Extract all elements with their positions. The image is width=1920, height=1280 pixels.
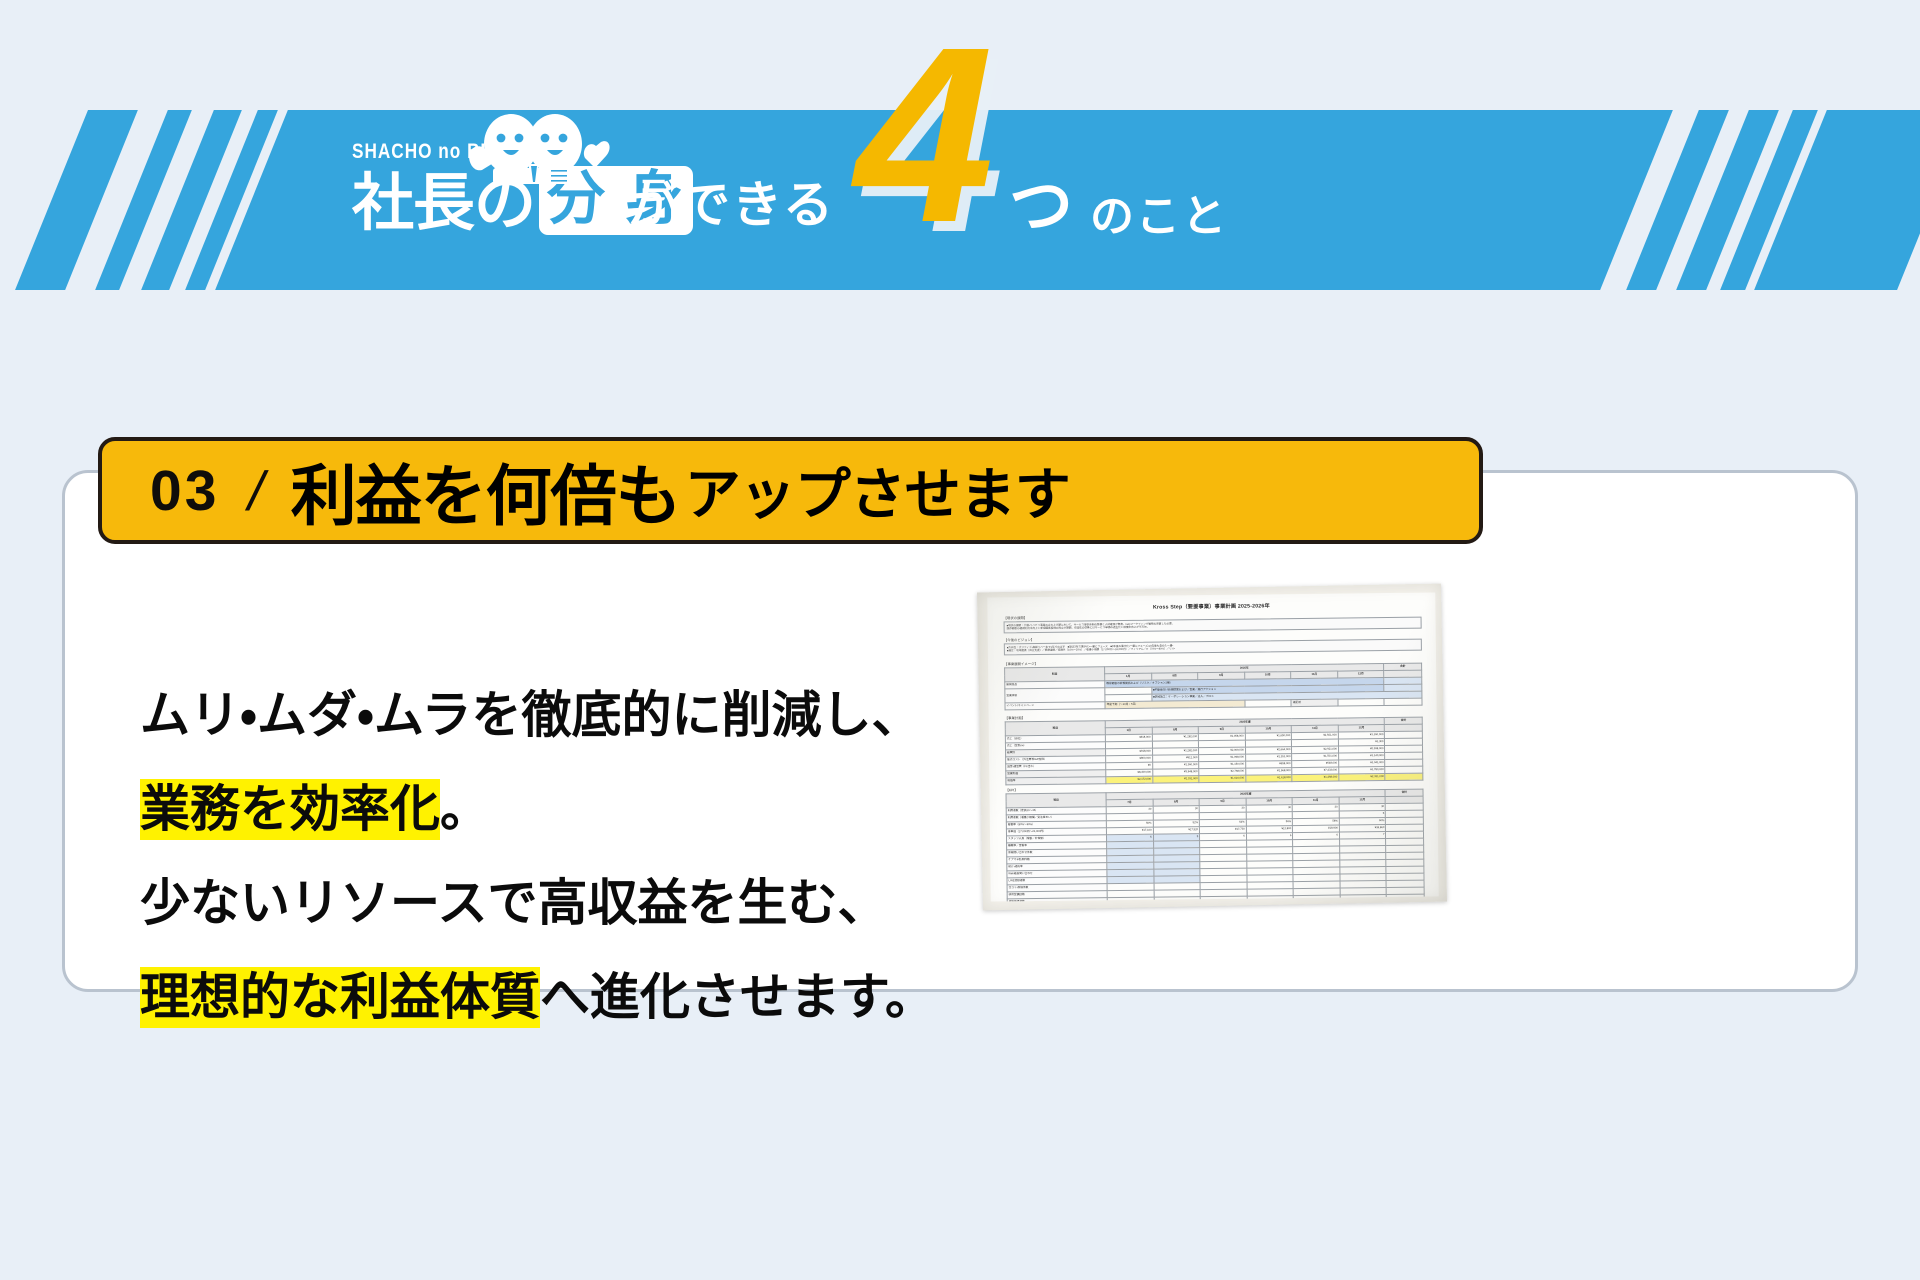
timeline-row-bar-2: 年度下期（〜10月：5日） [1105, 700, 1245, 709]
plan-row-label-6: 利益率 [1006, 777, 1106, 785]
body-line-4: 理想的な利益体質へ進化させます。 [140, 972, 1040, 1022]
body-line-3: 少ないリソースで高収益を生む、 [140, 878, 1040, 928]
sheet-section-kpi: 【KPI】 科目 2025年度 合計 7月 8月 9月 10月 11月 [1005, 783, 1425, 902]
body-line-2-seg-2: 。 [440, 781, 490, 837]
plan-cell: ¥2,331,000 [1339, 774, 1386, 782]
kpi-corner-label: 科目 [1006, 793, 1106, 808]
plan-cell: ¥1,618,000 [1246, 775, 1293, 783]
kpi-cell-total [1387, 894, 1425, 901]
timeline-corner-label: 科目 [1005, 667, 1105, 682]
sheet-kpi-table: 科目 2025年度 合計 7月 8月 9月 10月 11月 12月 [1006, 789, 1426, 902]
kpi-row-label-13: 資格取得者数 [1007, 898, 1107, 902]
kpi-cell [1200, 896, 1247, 901]
body-line-3-seg-1: 少ないリソースで高収益を生む、 [140, 875, 888, 931]
body-line-1: ムリ・ムダ・ムラを徹底的に削減し、 [140, 690, 1040, 740]
kpi-cell [1294, 895, 1341, 901]
kpi-cell [1340, 895, 1387, 902]
section-title-sub: アップさせます [685, 450, 1070, 531]
timeline-row-label-1: 営業体制 [1005, 688, 1105, 703]
timeline-cell-note: 補正前 [1291, 699, 1338, 707]
kpi-cell [1154, 897, 1201, 902]
section-title-main: 利益を何倍も [291, 443, 681, 539]
sheet-timeline-table: 科目 2025年 合計 1月 8月 9月 10月 11月 12月 [1004, 663, 1422, 711]
sheet-section-issues: 【現状の課題】 ■現状の課題：介護・リハビリ事業の立ち上げ期において、サービス提… [1003, 611, 1421, 634]
spreadsheet-sheet: Kross Step（要援事業）事業計画 2025-2026年 【現状の課題】 … [987, 592, 1438, 901]
body-line-4-seg-2: へ進化させます。 [540, 969, 935, 1025]
slide-canvas: SHACHO no BUNSHIN 社長の 分 身 が [0, 0, 1920, 1280]
plan-cell: ¥1,468,000 [1292, 774, 1339, 782]
headline-tsu: つ [1009, 155, 1073, 247]
plan-cell: ¥2,331,000 [1152, 776, 1199, 784]
body-text-block: ムリ・ムダ・ムラを徹底的に削減し、 業務を効率化。 少ないリソースで高収益を生む… [140, 690, 1040, 1022]
timeline-cell-empty-2 [1338, 699, 1385, 707]
headline-no-koto: のこと [1090, 180, 1228, 244]
kpi-cell [1107, 897, 1154, 901]
section-number: 03 [150, 458, 219, 524]
twin-mascot-icon [455, 112, 615, 184]
sheet-plan-table: 科目 2025年度 合計 1月 8月 9月 10月 11月 12月 [1005, 717, 1424, 786]
headline-number-four: 4 [855, 10, 994, 260]
plan-cell: ¥2,172,000 [1106, 776, 1153, 784]
kpi-cell [1247, 896, 1294, 902]
sheet-section-vision: 【今後のビジョン】 ■方向性：ポジティブ・高齢リハ一本で1年でのばす ■設定3年… [1004, 633, 1422, 656]
plan-cell: ¥1,616,000 [1199, 775, 1246, 783]
plan-cell-total [1385, 773, 1423, 780]
body-line-2: 業務を効率化。 [140, 784, 1040, 834]
body-line-2-highlight: 業務を効率化 [140, 779, 440, 840]
timeline-cell-empty-1 [1245, 700, 1292, 708]
sheet-section-plan: 【事業計画】 科目 2025年度 合計 1月 8月 9月 10月 11月 [1005, 711, 1424, 786]
sheet-section-timeline: 【事業展開イメージ】 科目 2025年 合計 1月 8月 9月 10月 11 [1004, 657, 1423, 711]
section-separator: / [243, 459, 272, 523]
body-line-1-seg-1: ムリ・ムダ・ムラを徹底的に削減し、 [140, 687, 922, 743]
spreadsheet-photo: Kross Step（要援事業）事業計画 2025-2026年 【現状の課題】 … [980, 588, 1450, 910]
timeline-cell-empty-3 [1384, 698, 1422, 705]
timeline-row-label-2: イベント/キャンペーン [1005, 702, 1105, 710]
section-title-pill: 03 / 利益を何倍も アップさせます [98, 437, 1483, 544]
body-line-4-highlight: 理想的な利益体質 [140, 967, 540, 1028]
photo-paper: Kross Step（要援事業）事業計画 2025-2026年 【現状の課題】 … [977, 584, 1447, 911]
plan-corner-label: 科目 [1005, 721, 1105, 736]
headline-ga-dekiru: ができる [628, 165, 835, 237]
